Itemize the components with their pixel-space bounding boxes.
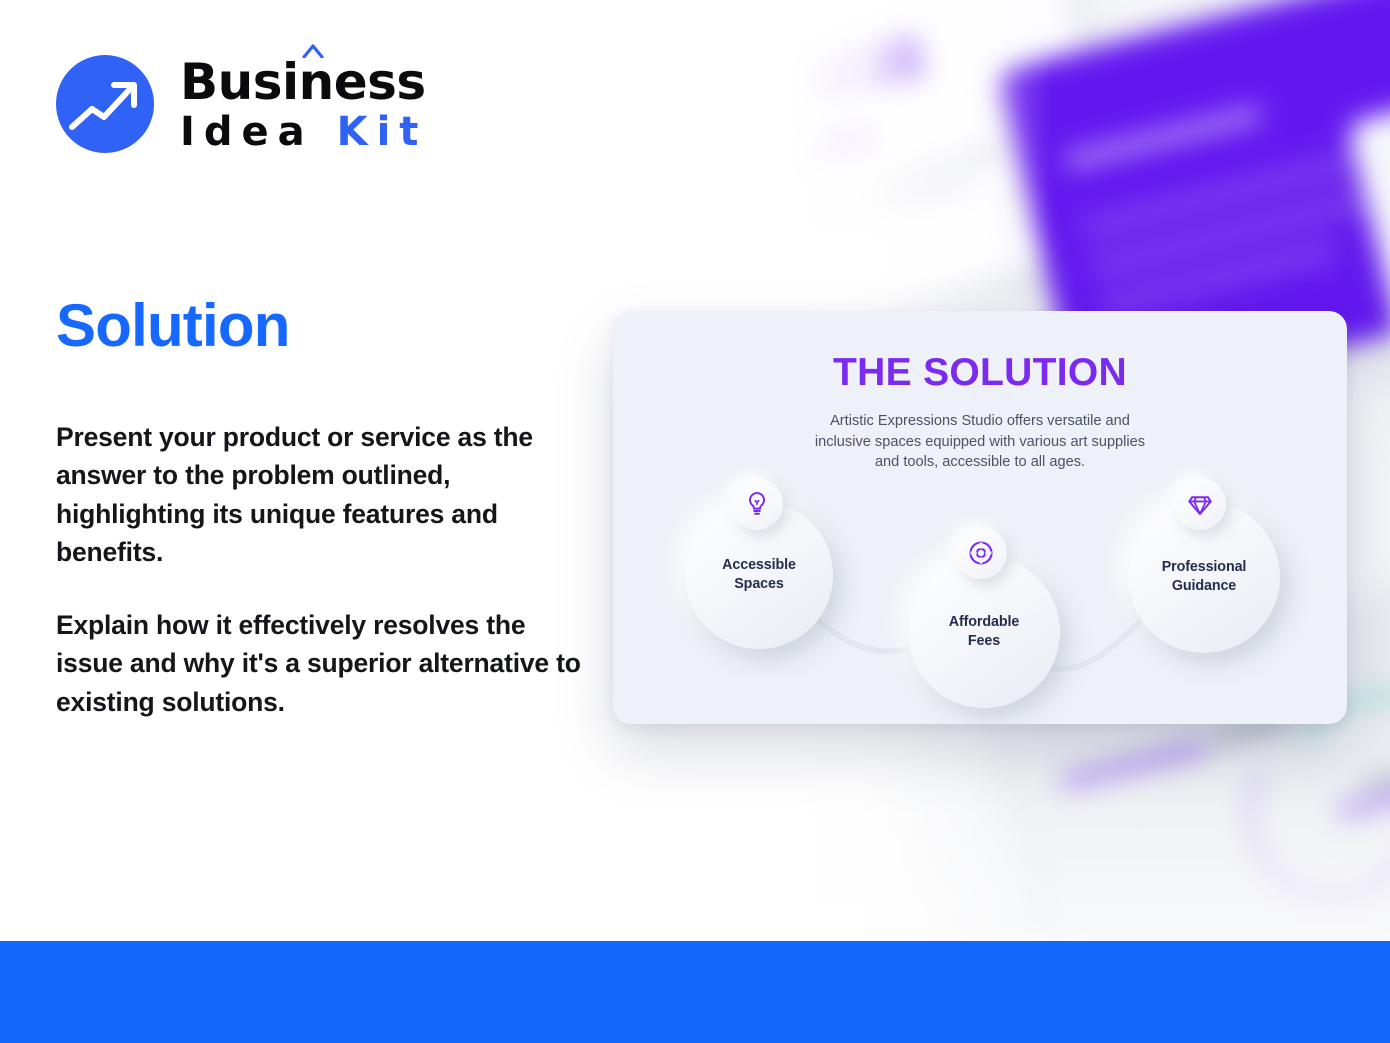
- lifebuoy-icon-badge: [955, 527, 1007, 579]
- body-paragraph-1: Present your product or service as the a…: [56, 418, 596, 572]
- brand-wordmark: Business Idea Kit: [180, 57, 427, 152]
- diamond-icon: [1186, 490, 1214, 518]
- circumflex-accent-icon: [302, 44, 324, 58]
- slide-page: Business Idea Kit Solution Present your …: [0, 0, 1390, 1043]
- solution-items: Accessible Spaces Affordable Fees Profes…: [613, 311, 1347, 724]
- growth-chart-arrow-icon: [56, 55, 154, 153]
- solution-item-label-line2: Fees: [968, 633, 1000, 649]
- solution-item-label-line1: Affordable: [949, 614, 1020, 630]
- page-title: Solution: [56, 296, 290, 356]
- lifebuoy-icon: [967, 539, 995, 567]
- solution-item-label-line1: Accessible: [722, 557, 796, 573]
- solution-card: THE SOLUTION Artistic Expressions Studio…: [613, 311, 1347, 724]
- solution-item-label-line1: Professional: [1162, 559, 1247, 575]
- brand-name-kit: Kit: [337, 109, 428, 155]
- brand-logo[interactable]: Business Idea Kit: [56, 55, 427, 153]
- lightbulb-icon: [743, 490, 771, 518]
- solution-item-label: Affordable Fees: [949, 613, 1020, 651]
- solution-item-label-line2: Guidance: [1172, 578, 1236, 594]
- body-copy: Present your product or service as the a…: [56, 418, 596, 721]
- solution-item-label: Professional Guidance: [1162, 558, 1247, 596]
- brand-name-idea: Idea: [180, 109, 314, 155]
- footer-bar: [0, 941, 1390, 1043]
- solution-item-label-line2: Spaces: [734, 576, 783, 592]
- brand-name-line1: Business: [180, 57, 427, 107]
- diamond-icon-badge: [1174, 478, 1226, 530]
- body-paragraph-2: Explain how it effectively resolves the …: [56, 606, 596, 721]
- brand-name-line2: Idea Kit: [180, 112, 427, 152]
- brand-name-business: Business: [180, 53, 426, 111]
- lightbulb-icon-badge: [731, 478, 783, 530]
- solution-item-label: Accessible Spaces: [722, 556, 796, 594]
